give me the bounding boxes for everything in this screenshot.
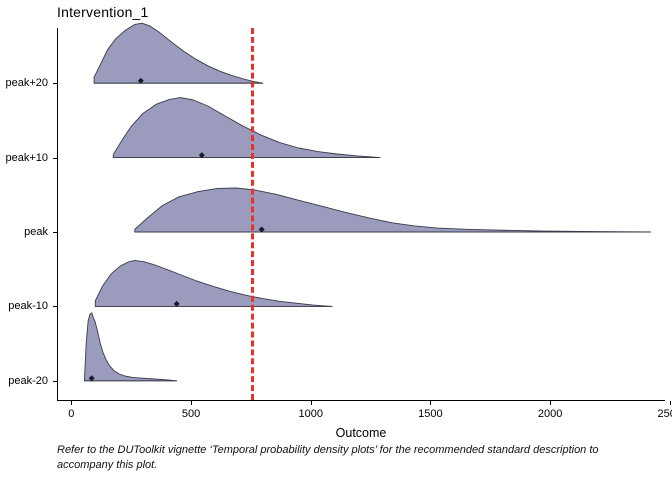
x-axis-title: Outcome [57, 426, 665, 440]
chart-root: Intervention_1 05001000150020002500 peak… [0, 0, 672, 480]
x-tick-label: 500 [182, 408, 200, 420]
x-tick-mark [550, 401, 551, 405]
y-tick-label: peak-10 [8, 300, 48, 312]
x-tick-label: 1000 [298, 408, 322, 420]
chart-title: Intervention_1 [57, 4, 149, 20]
plot-caption: Refer to the DUToolkit vignette ‘Tempora… [57, 443, 632, 473]
y-tick-mark [53, 83, 57, 84]
y-tick-label: peak [24, 226, 48, 238]
x-tick-mark [71, 401, 72, 405]
y-tick-label: peak+10 [5, 152, 48, 164]
y-tick-mark [53, 232, 57, 233]
y-tick-mark [53, 381, 57, 382]
density-area-peak [135, 188, 651, 232]
x-tick-label: 2500 [658, 408, 672, 420]
y-tick-mark [53, 158, 57, 159]
x-tick-mark [191, 401, 192, 405]
x-tick-label: 0 [68, 408, 74, 420]
x-tick-mark [311, 401, 312, 405]
reference-line [251, 28, 254, 400]
density-area-peak-20 [85, 313, 177, 381]
caption-line-1: Refer to the DUToolkit vignette ‘Tempora… [57, 444, 586, 456]
density-area-peak+10 [113, 98, 380, 158]
density-ridgeline-layer [57, 28, 665, 400]
density-area-peak+20 [94, 23, 263, 83]
x-tick-mark [430, 401, 431, 405]
density-area-peak-10 [95, 260, 332, 306]
x-tick-label: 1500 [418, 408, 442, 420]
x-axis-line [57, 400, 665, 401]
y-tick-label: peak-20 [8, 375, 48, 387]
plot-area: 05001000150020002500 peak-20peak-10peakp… [57, 28, 665, 400]
y-tick-mark [53, 306, 57, 307]
x-tick-label: 2000 [538, 408, 562, 420]
y-tick-label: peak+20 [5, 77, 48, 89]
x-tick-mark [670, 401, 671, 405]
